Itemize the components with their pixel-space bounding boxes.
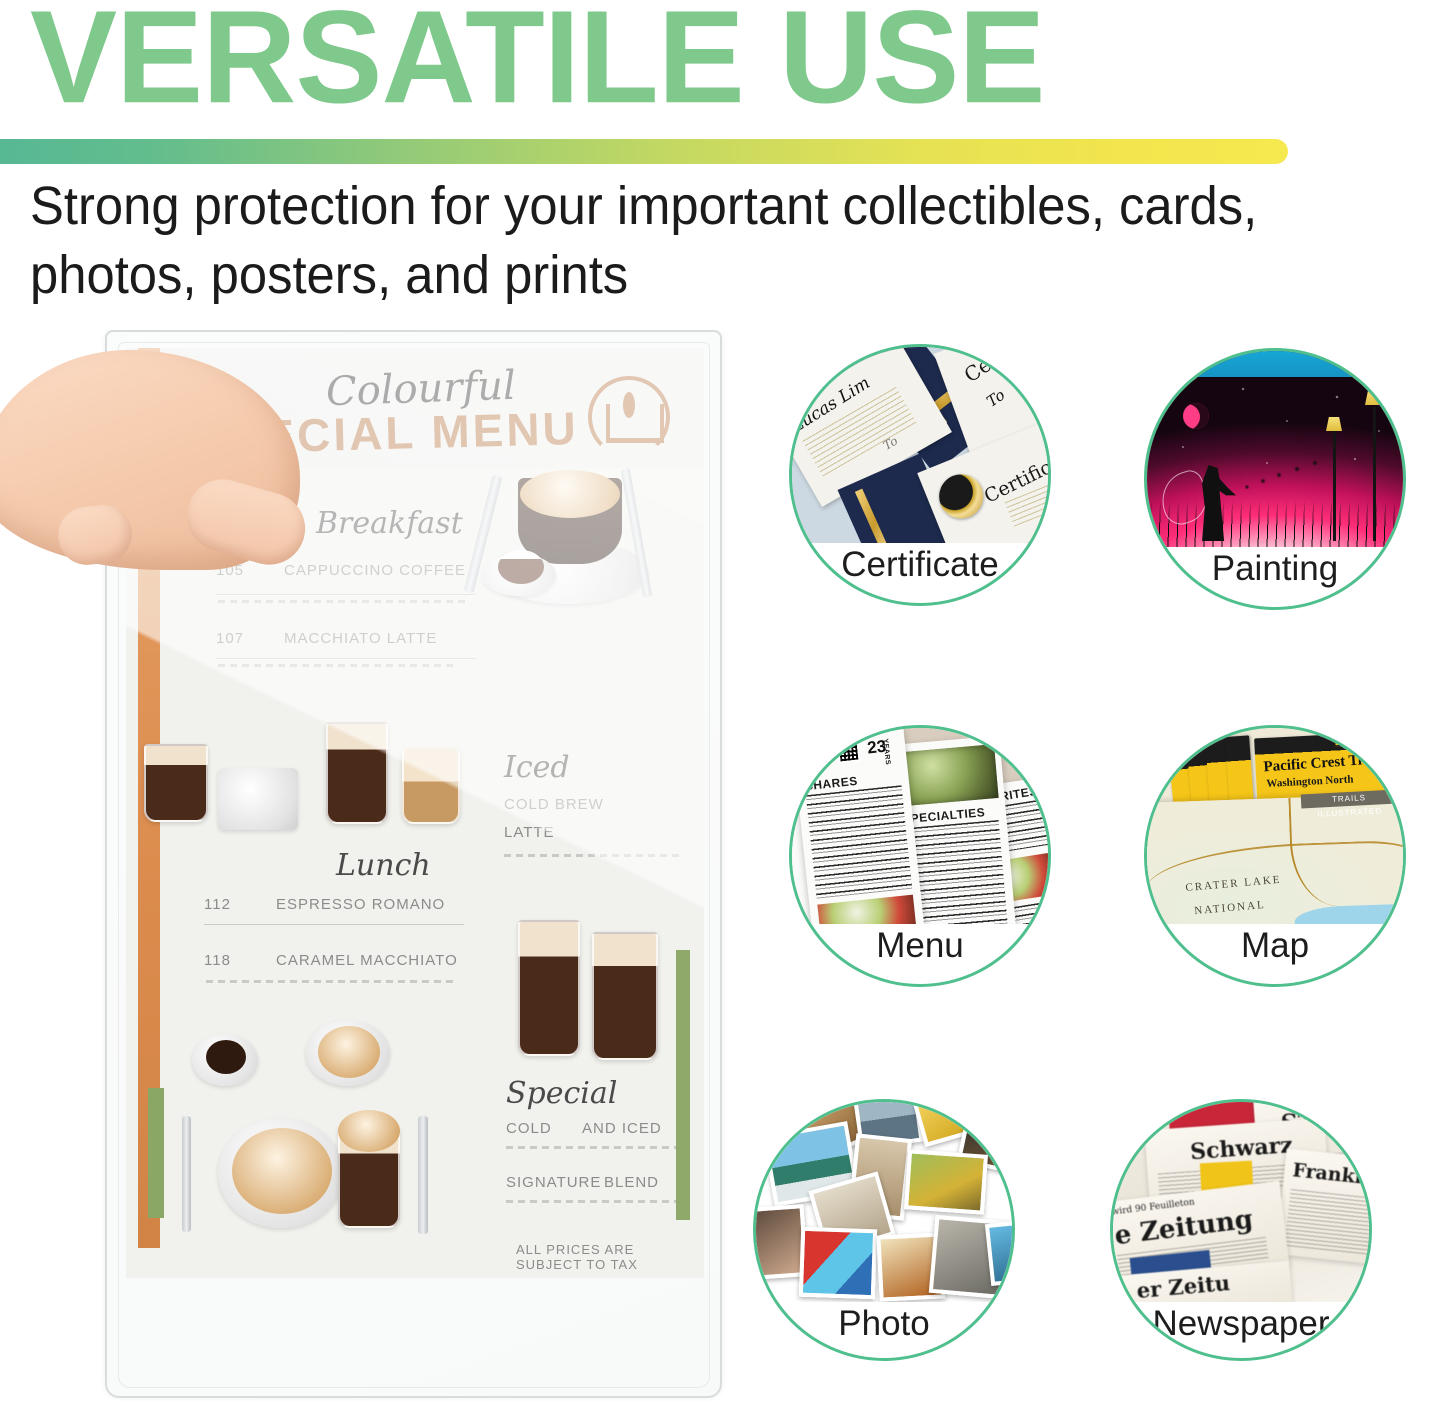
menu-green-stripe-right [676, 950, 690, 1220]
use-case-menu[interactable]: FAVORITES SPECIALTIES 23 YEARS SHARES Me… [789, 725, 1051, 987]
espresso-cup-art [206, 1040, 246, 1074]
menu-item-code: 118 [204, 952, 231, 969]
menu-item-name: MACCHIATO LATTE [284, 630, 437, 647]
menu-item-name: CARAMEL MACCHIATO [276, 952, 458, 969]
menu-illustration: FAVORITES SPECIALTIES 23 YEARS SHARES [792, 728, 1048, 924]
menu-item-name: AND ICED [582, 1120, 662, 1137]
menu-divider [204, 924, 464, 925]
cube-art [218, 768, 298, 830]
certificate-word: To [983, 386, 1008, 411]
menu-item-name: CAPPUCCINO COFFEE [284, 562, 466, 579]
food-photo-art [896, 744, 998, 806]
use-case-newspaper[interactable]: ST Schwarz Frankfurter wird 90 Feuilleto… [1110, 1099, 1372, 1361]
newspaper-lines [1285, 1189, 1369, 1257]
coffee-glass-art [402, 748, 460, 824]
coffee-glass-art [326, 722, 388, 824]
restaurant-logo-icon [799, 743, 831, 768]
menu-green-stripe-left [148, 1088, 164, 1218]
use-case-painting[interactable]: Painting [1144, 348, 1406, 610]
newspaper-headline: Frankfurter [1291, 1159, 1369, 1194]
cappuccino-foam-art [232, 1128, 332, 1214]
menu-desc-lines [504, 854, 684, 857]
newspaper-backdrop: ST Schwarz Frankfurter wird 90 Feuilleto… [1113, 1102, 1369, 1302]
newspaper-sheet: Frankfurter [1276, 1148, 1369, 1265]
certificate-illustration: Lucas Lim To Ce To Certificate [792, 347, 1048, 543]
menu-footer-note: ALL PRICES ARE SUBJECT TO TAX [516, 1242, 704, 1272]
menu-item-name: BLEND [604, 1174, 659, 1191]
certificate-word: Ce [960, 352, 996, 387]
espresso-cup-art [498, 550, 544, 584]
menu-item-name: COLD BREW [504, 796, 604, 813]
menu-paper-front: 23 YEARS SHARES [792, 728, 924, 924]
painting-illustration [1147, 351, 1403, 547]
use-case-label: Newspaper [1110, 1302, 1372, 1346]
coffee-glass-art [144, 744, 208, 822]
use-case-label: Photo [753, 1302, 1015, 1346]
menu-section-heading: Breakfast [316, 506, 463, 541]
menu-divider [216, 658, 476, 659]
menu-item-code: SIGNATURE [506, 1174, 601, 1191]
product-photo: Colourful SPECIAL MENU Breakfast 105 CAP… [0, 330, 740, 1426]
coffee-glass-art [592, 932, 658, 1060]
use-case-map[interactable]: Pacific Crest Trail Washington North CRA… [1144, 725, 1406, 987]
menu-item-code: 107 [216, 630, 244, 647]
newspaper-headline: er Zeitu [1136, 1270, 1231, 1302]
menu-desc-lines [218, 664, 458, 667]
menu-desc-lines [506, 1146, 676, 1149]
crescent-moon-icon [1183, 403, 1209, 429]
menu-desc-lines [506, 1200, 676, 1203]
header-section: VERSATILE USE Strong protection for your… [0, 0, 1445, 310]
use-case-label: Certificate [789, 543, 1051, 587]
qr-code-icon [836, 739, 860, 763]
use-case-certificate[interactable]: Lucas Lim To Ce To Certificate Certifica… [789, 344, 1051, 606]
page-title: VERSATILE USE [30, 0, 1044, 124]
use-case-label: Painting [1144, 547, 1406, 591]
menu-desc-lines [218, 600, 468, 603]
anniversary-label: YEARS [881, 738, 891, 765]
national-geographic-logo [1334, 734, 1388, 747]
menu-item-name: ESPRESSO ROMANO [276, 896, 445, 913]
use-case-label: Menu [789, 924, 1051, 968]
map-title: Pacific Crest Trail [1263, 749, 1403, 776]
use-case-label: Map [1144, 924, 1406, 968]
certificate-seal-icon [933, 468, 990, 525]
menu-divider [216, 594, 476, 595]
menu-item-code: 112 [204, 896, 231, 913]
newspaper-illustration: ST Schwarz Frankfurter wird 90 Feuilleto… [1113, 1102, 1369, 1302]
latte-art [338, 1110, 400, 1152]
knife-art [418, 1116, 428, 1234]
food-photo-art [817, 895, 916, 924]
menu-logo-leaf-icon [623, 392, 635, 418]
photo-tile [904, 1149, 988, 1214]
photo-tile [799, 1227, 877, 1300]
map-subtitle: Washington North [1266, 773, 1354, 790]
menu-item-code: COLD [506, 1120, 552, 1137]
fork-art [182, 1116, 191, 1232]
menu-section-heading: Special [506, 1076, 617, 1111]
menu-section-heading: Iced [504, 750, 570, 785]
photo-collage-illustration [756, 1102, 1012, 1302]
page-subtitle: Strong protection for your important col… [30, 172, 1271, 310]
use-case-photo[interactable]: Photo [753, 1099, 1015, 1361]
floating-hearts-art [1243, 459, 1333, 495]
menu-desc-lines [206, 980, 456, 983]
menu-item-name: LATTE [504, 824, 555, 841]
photo-collage [756, 1102, 1012, 1302]
menu-logo-icon [588, 376, 670, 458]
map-illustration: Pacific Crest Trail Washington North CRA… [1147, 728, 1403, 924]
menu-section-heading: Lunch [336, 848, 431, 883]
latte-foam-art [520, 470, 620, 518]
accent-gradient-bar [0, 139, 1288, 164]
menu-lines [806, 785, 912, 898]
coffee-glass-art [518, 920, 580, 1056]
latte-art [318, 1026, 380, 1078]
